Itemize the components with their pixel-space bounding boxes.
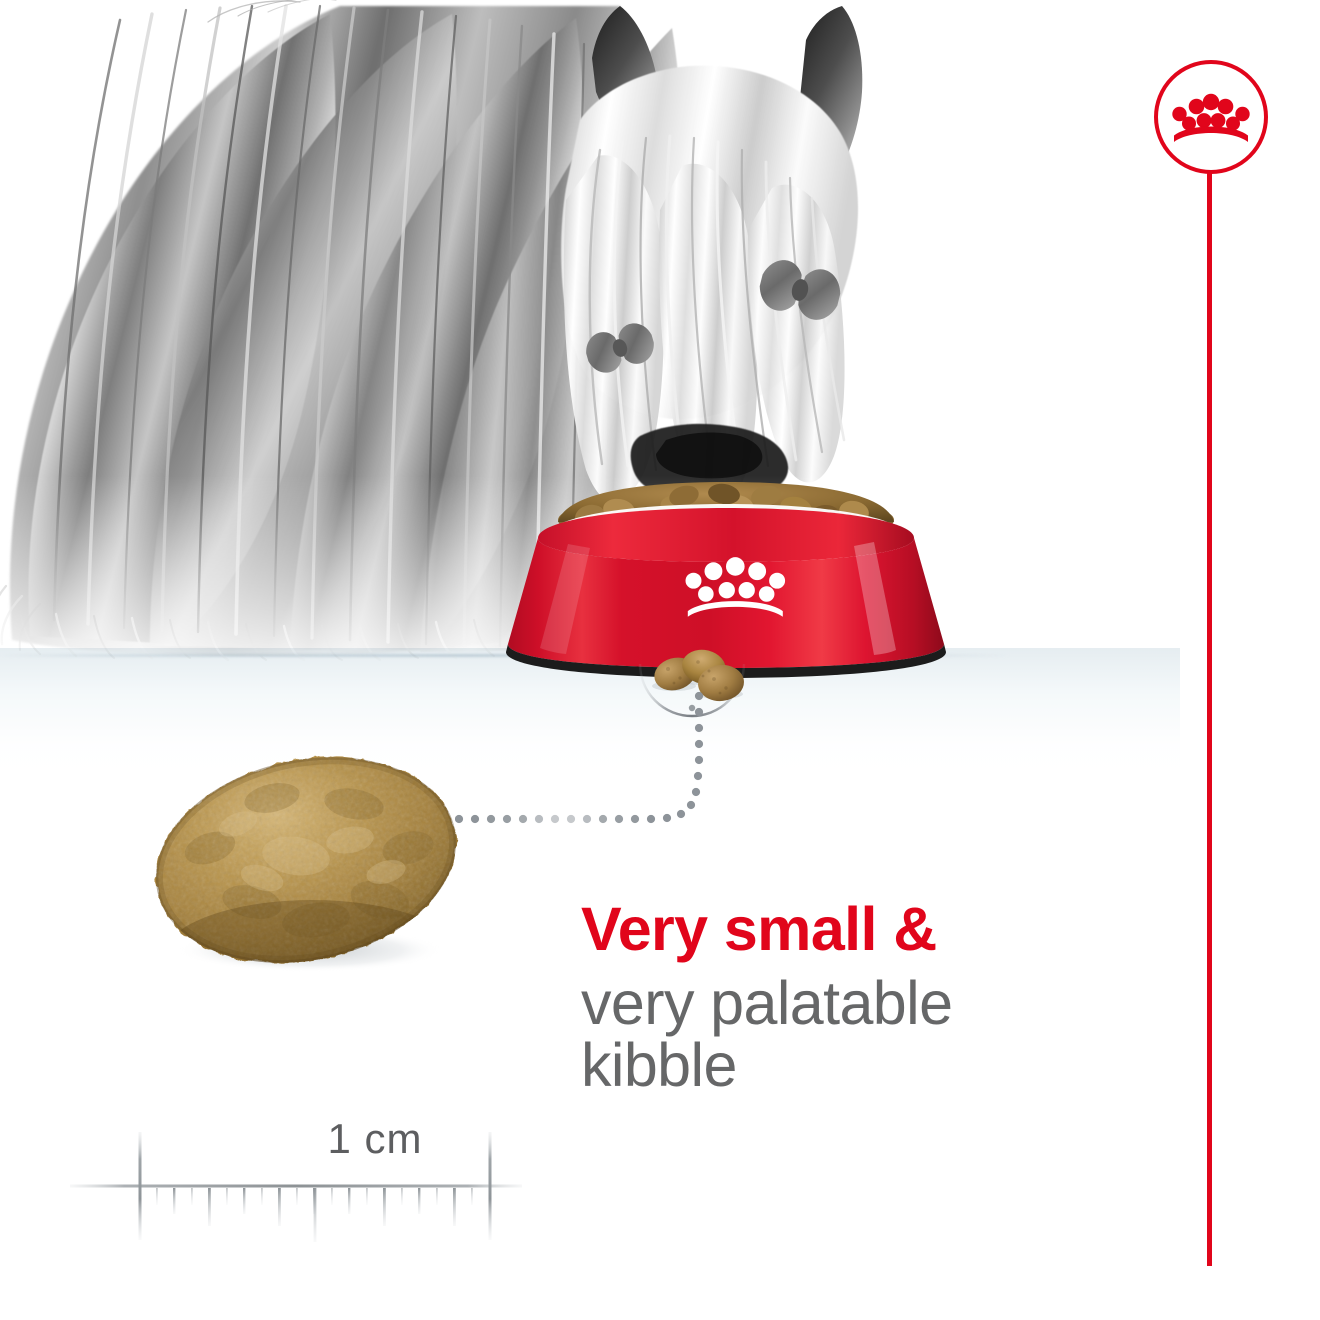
claim-line-1: Very small & <box>581 898 1011 960</box>
claim-line-2: very palatable <box>581 972 1011 1034</box>
brand-badge <box>1152 58 1270 176</box>
kibble-oval-icon <box>140 752 488 984</box>
scale-ruler: 1 cm <box>60 1118 530 1243</box>
loose-kibble-group <box>630 636 790 736</box>
brand-stem-line <box>1207 172 1212 1266</box>
product-feature-panel: Very small & very palatable kibble 1 cm <box>0 0 1320 1320</box>
brand-badge-circle <box>1156 62 1266 172</box>
claim-text-block: Very small & very palatable kibble <box>581 898 1011 1096</box>
royal-canin-crown-icon <box>1172 94 1249 142</box>
claim-line-3: kibble <box>581 1034 1011 1096</box>
